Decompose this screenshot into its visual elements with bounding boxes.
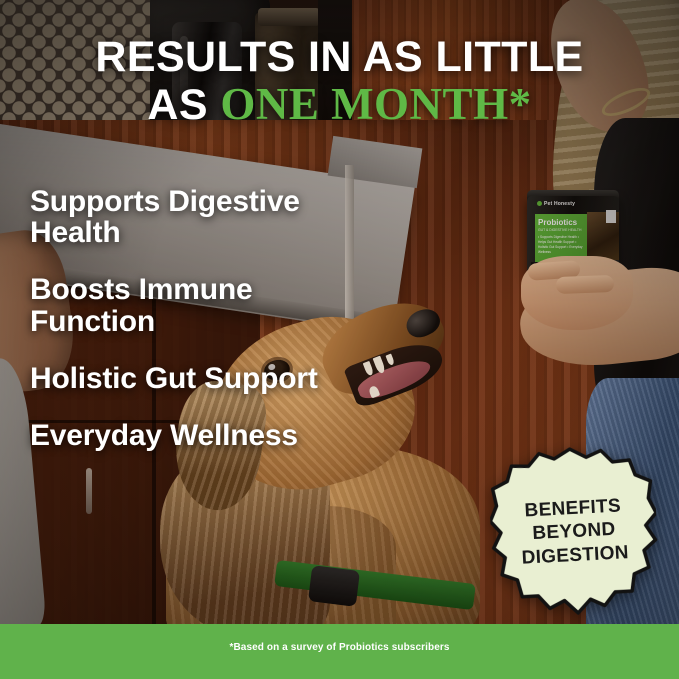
advertisement-image: Pet Honesty Probiotics GUT & DIGESTIVE H… xyxy=(0,0,679,679)
footer-green-bar: *Based on a survey of Probiotics subscri… xyxy=(0,624,679,679)
jar-bullet-list: • Supports Digestive Health • Helps Gut … xyxy=(538,235,587,255)
badge-line-3: DIGESTION xyxy=(521,541,629,570)
dog-collar-tag xyxy=(308,565,360,607)
coffee-carafe xyxy=(172,22,242,130)
footer-disclaimer: *Based on a survey of Probiotics subscri… xyxy=(0,642,679,653)
jar-brand-label: Pet Honesty xyxy=(544,201,575,207)
jar-seal-badge xyxy=(606,210,616,223)
drawer-pull xyxy=(86,468,92,514)
benefits-beyond-digestion-badge: BENEFITS BEYOND DIGESTION xyxy=(487,443,662,621)
dog-tooth xyxy=(385,354,395,366)
dog-photo xyxy=(170,296,500,636)
jar-product-name: Probiotics xyxy=(538,218,577,227)
canister-lid xyxy=(258,8,320,26)
paw-icon xyxy=(537,201,542,206)
finger xyxy=(556,275,615,294)
jar-brand-name: Pet Honesty xyxy=(537,201,575,207)
badge-text-block: BENEFITS BEYOND DIGESTION xyxy=(487,443,662,621)
jar-product-subtitle: GUT & DIGESTIVE HEALTH xyxy=(538,228,581,232)
